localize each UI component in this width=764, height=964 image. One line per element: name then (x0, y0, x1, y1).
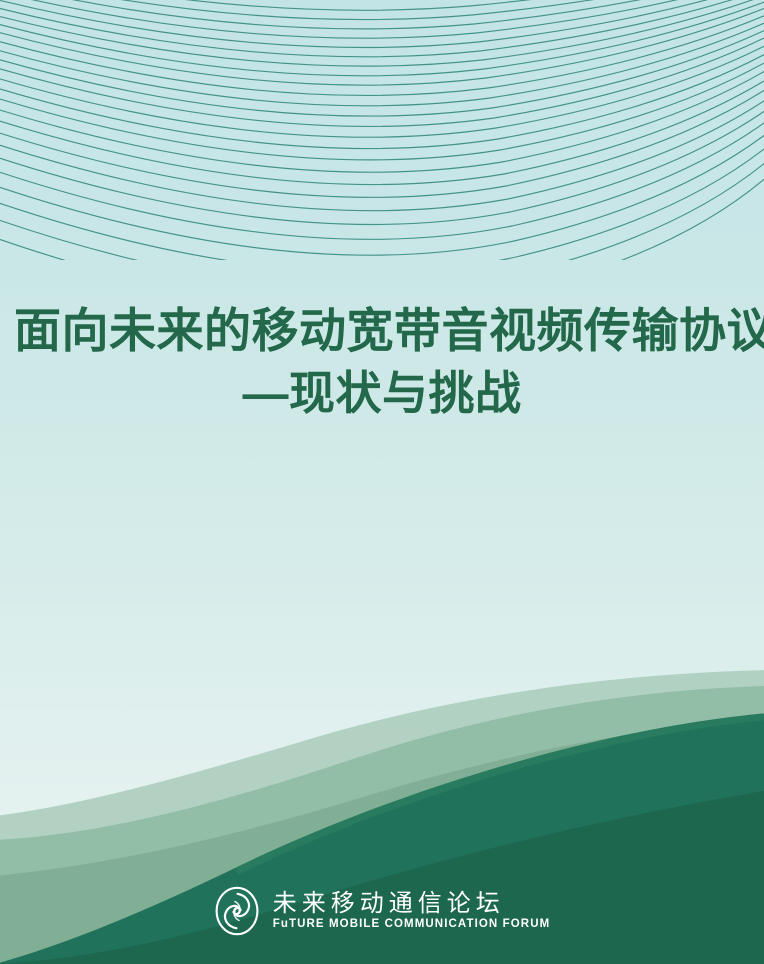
organization-name-cn: 未来移动通信论坛 (273, 892, 505, 916)
document-cover: 面向未来的移动宽带音视频传输协议 —现状与挑战 未来移动通信论坛 (0, 0, 764, 964)
title-line-subtitle: —现状与挑战 (14, 362, 750, 424)
swirl-circle-logo-icon (214, 886, 260, 936)
organization-name-en: FuTURE MOBILE COMMUNICATION FORUM (273, 919, 551, 931)
brand-text-group: 未来移动通信论坛 FuTURE MOBILE COMMUNICATION FOR… (273, 892, 551, 931)
cover-title-block: 面向未来的移动宽带音视频传输协议 —现状与挑战 (0, 300, 764, 424)
wave-line-fan-decoration (0, 0, 764, 260)
title-line-primary: 面向未来的移动宽带音视频传输协议 (14, 300, 750, 362)
brand-logo-lockup: 未来移动通信论坛 FuTURE MOBILE COMMUNICATION FOR… (0, 886, 764, 936)
